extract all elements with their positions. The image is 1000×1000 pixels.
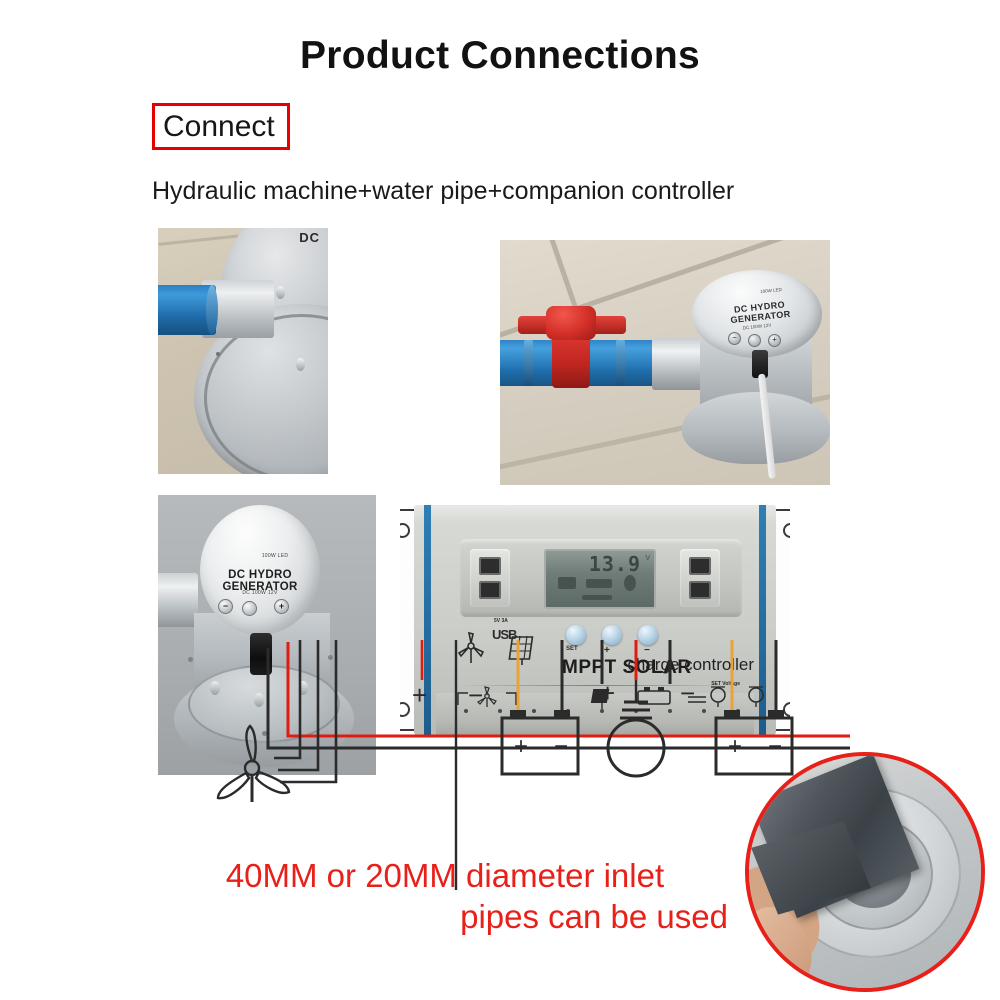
lcd-panel-icon [558, 577, 576, 589]
photo-pipe-generator: DC [158, 228, 328, 474]
connect-callout-box: Connect [152, 103, 290, 150]
lcd-status-bar [582, 595, 612, 600]
lamp-symbol [608, 680, 664, 776]
terminal-positive: + [274, 599, 289, 614]
usb-slot-left[interactable] [470, 549, 510, 607]
usb-port-icon[interactable] [479, 581, 501, 599]
lcd-voltage-value: 13.9 [589, 552, 641, 576]
terminal-positive: + [768, 334, 781, 347]
bottom-caption: 40MM or 20MM diameter inlet pipes can be… [150, 855, 740, 937]
cap-spec-text: DC 100W 12V [210, 590, 310, 596]
infographic-page: Product Connections Connect Hydraulic ma… [0, 0, 1000, 1000]
red-valve-knob [546, 306, 596, 340]
svg-text:−: − [554, 733, 568, 760]
connect-label: Connect [163, 110, 275, 144]
terminal-negative: − [218, 599, 233, 614]
terminal-negative: − [728, 332, 741, 345]
screw-boss [296, 358, 305, 371]
caption-line-2: pipes can be used [150, 896, 740, 937]
partial-dc-label: DC [299, 230, 320, 245]
photo-adapter-inset [745, 752, 985, 992]
terminal-center [748, 334, 761, 347]
cap-top-text: 100W LED [230, 553, 320, 559]
usb-port-icon[interactable] [479, 557, 501, 575]
generator-base-flange [682, 392, 830, 464]
usb-spec-label: 5V 3A [494, 618, 508, 624]
subtitle-text: Hydraulic machine+water pipe+companion c… [152, 177, 734, 206]
wire-ac-2 [278, 640, 318, 770]
bracket-screw-hole [783, 523, 790, 538]
solar-plus-label: + [412, 680, 427, 710]
solar-minus-label: − [468, 680, 483, 710]
pipe-end [206, 285, 218, 335]
battery-symbol-1: + − [502, 710, 578, 774]
wiring-diagram: + − + − + − + − [150, 640, 850, 890]
usb-slot-right[interactable] [680, 549, 720, 607]
load-minus-label: − [680, 678, 695, 708]
wire-positive-generator [288, 642, 850, 736]
terminal-center [242, 601, 257, 616]
flange-hole [216, 352, 220, 356]
wind-turbine-symbol [218, 726, 289, 802]
svg-text:+: + [728, 733, 742, 760]
load-plus-label: + [600, 678, 615, 708]
svg-text:+: + [514, 733, 528, 760]
lcd-battery-icon [586, 579, 612, 588]
lcd-display: 13.9 V [544, 549, 656, 609]
side-inlet-pipe [158, 573, 198, 627]
lcd-lamp-icon [624, 575, 636, 591]
photo-valve-generator: 100W LED DC HYDRO GENERATOR DC 100W 12V … [500, 240, 830, 485]
lcd-unit-label: V [645, 555, 650, 562]
pipe-rib [616, 340, 625, 386]
caption-line-1: 40MM or 20MM diameter inlet [226, 857, 664, 894]
usb-port-icon[interactable] [689, 557, 711, 575]
bracket-screw-hole [400, 523, 410, 538]
page-title: Product Connections [0, 34, 1000, 78]
usb-port-icon[interactable] [689, 581, 711, 599]
screw-boss [276, 286, 285, 299]
pipe-rib [524, 340, 533, 386]
